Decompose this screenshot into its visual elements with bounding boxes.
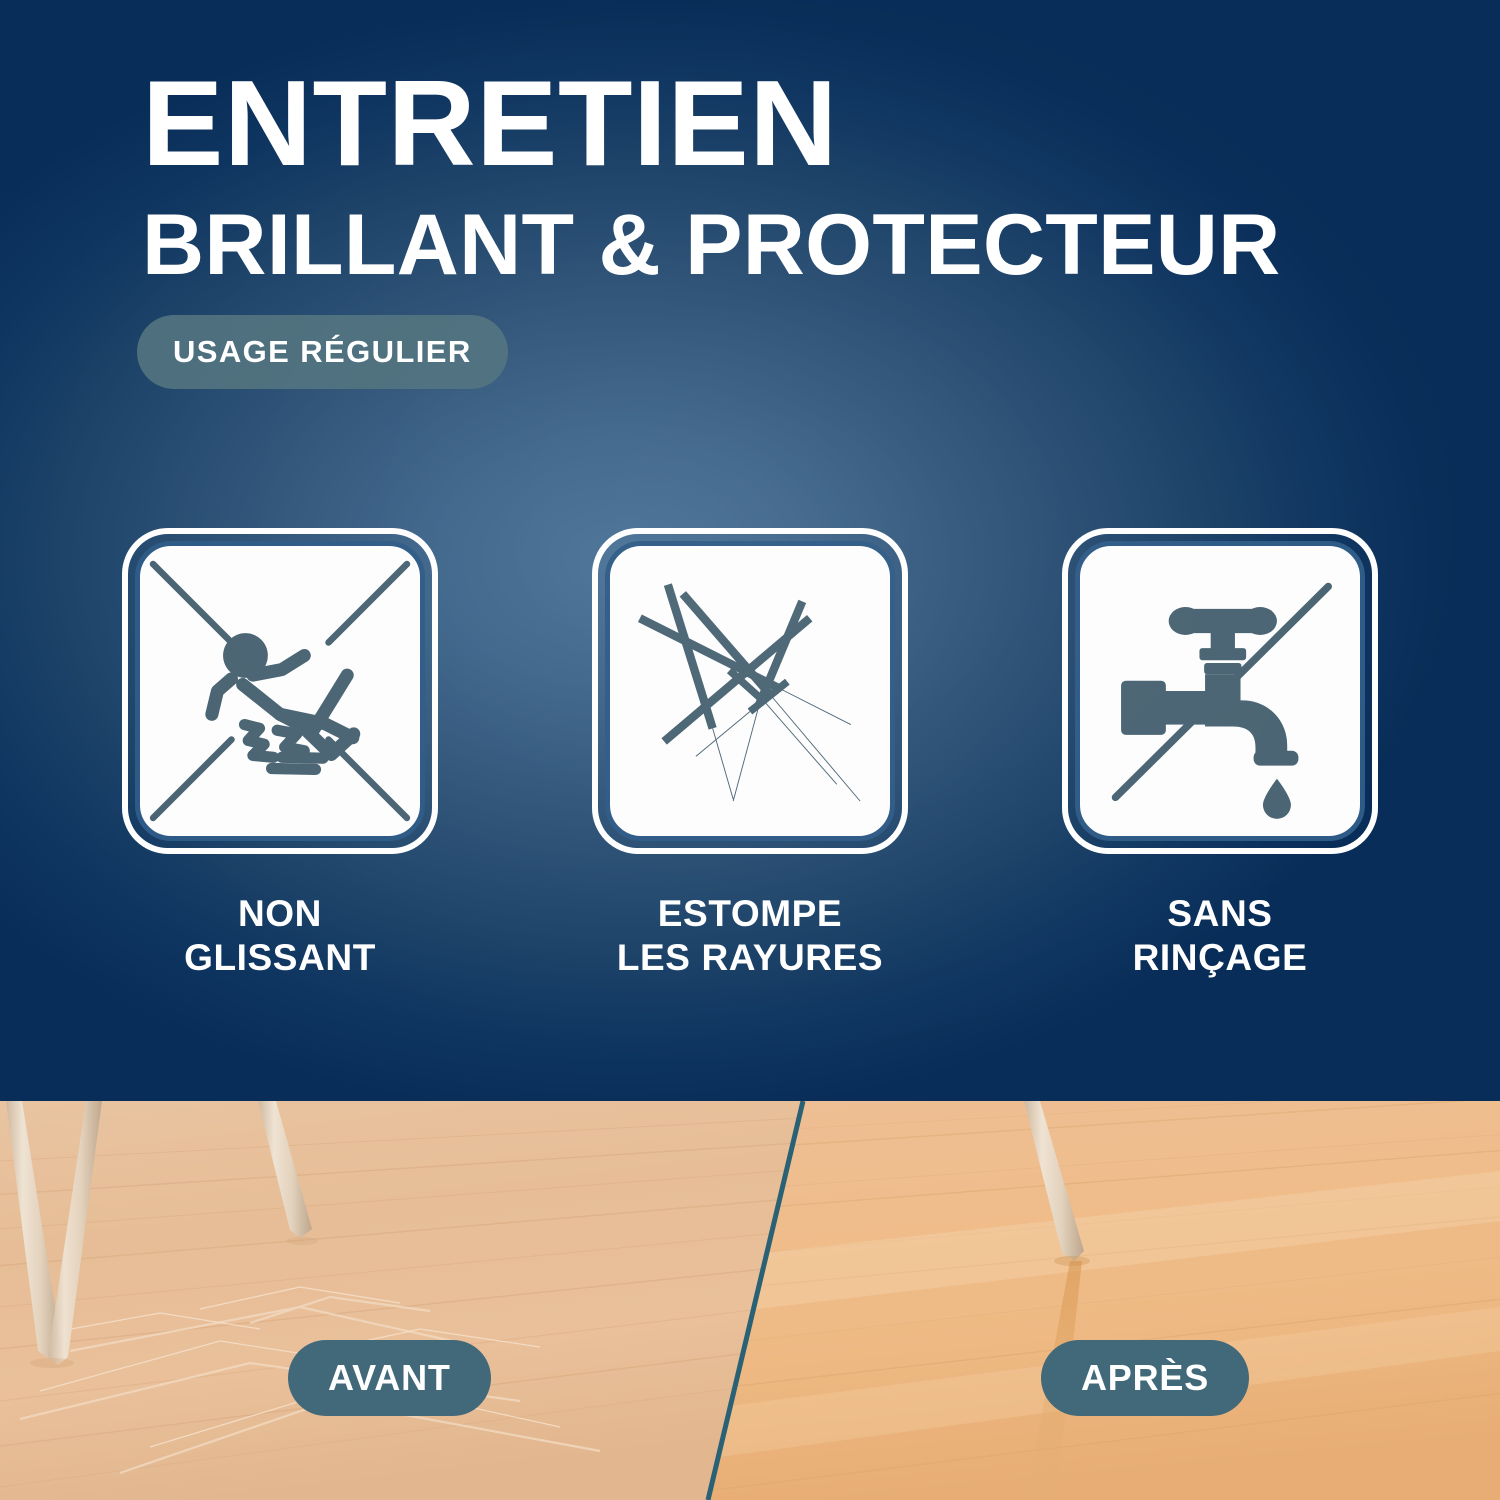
usage-badge-label: USAGE RÉGULIER: [173, 334, 472, 370]
feature-label: ESTOMPE LES RAYURES: [617, 892, 883, 979]
after-pill-label: APRÈS: [1081, 1357, 1209, 1399]
feature-list: NON GLISSANT: [0, 528, 1500, 979]
feature-tile: [122, 528, 438, 854]
feature-item-non-glissant: NON GLISSANT: [122, 528, 438, 979]
page-title: ENTRETIEN: [142, 62, 1402, 184]
no-rinse-faucet-icon: [1075, 541, 1365, 841]
page-subtitle: BRILLANT & PROTECTEUR: [142, 202, 1402, 288]
feature-label: NON GLISSANT: [184, 892, 376, 979]
before-pill: AVANT: [288, 1340, 491, 1416]
feature-item-estompe-les-rayures: ESTOMPE LES RAYURES: [592, 528, 908, 979]
feature-tile: [1062, 528, 1378, 854]
after-pill: APRÈS: [1041, 1340, 1249, 1416]
before-after-photo: [0, 1101, 1500, 1500]
title-block: ENTRETIEN BRILLANT & PROTECTEUR: [142, 62, 1402, 288]
no-slip-icon: [135, 541, 425, 841]
fading-scratches-icon: [605, 541, 895, 841]
feature-tile: [592, 528, 908, 854]
feature-label: SANS RINÇAGE: [1133, 892, 1308, 979]
usage-badge: USAGE RÉGULIER: [137, 315, 508, 389]
hero-panel: ENTRETIEN BRILLANT & PROTECTEUR USAGE RÉ…: [0, 0, 1500, 1101]
feature-item-sans-rincage: SANS RINÇAGE: [1062, 528, 1378, 979]
before-pill-label: AVANT: [328, 1357, 451, 1399]
product-infographic: ENTRETIEN BRILLANT & PROTECTEUR USAGE RÉ…: [0, 0, 1500, 1500]
